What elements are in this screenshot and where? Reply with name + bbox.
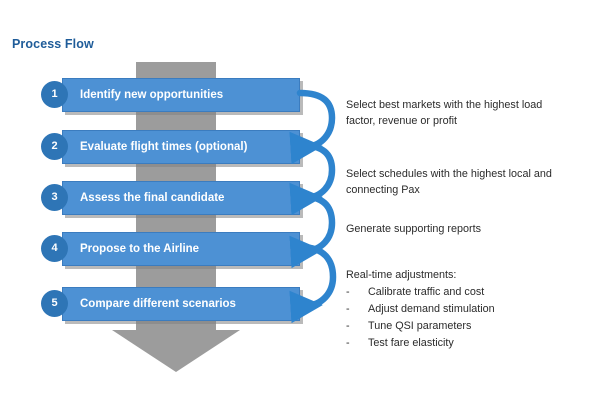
annotation-2-line-1: Select schedules with the highest local … <box>346 166 592 182</box>
annotation-4-bullet-4: -Test fare elasticity <box>346 335 592 352</box>
step-number-5: 5 <box>41 290 68 317</box>
step-number-3: 3 <box>41 184 68 211</box>
step-label-3: Assess the final candidate <box>80 181 224 215</box>
annotation-4-bullet-1-text: Calibrate traffic and cost <box>368 286 484 298</box>
bullet-marker-icon: - <box>346 301 368 318</box>
step-number-2: 2 <box>41 133 68 160</box>
annotation-4-bullet-4-text: Test fare elasticity <box>368 337 454 349</box>
loop-arrow-4 <box>300 247 333 306</box>
loop-arrow-1 <box>300 93 332 147</box>
annotation-2: Select schedules with the highest local … <box>346 166 592 198</box>
loop-arrow-3 <box>300 196 332 251</box>
annotation-2-line-2: connecting Pax <box>346 182 592 198</box>
annotation-4: Real-time adjustments: -Calibrate traffi… <box>346 267 592 352</box>
annotation-1: Select best markets with the highest loa… <box>346 97 592 129</box>
annotation-3: Generate supporting reports <box>346 221 592 237</box>
bullet-marker-icon: - <box>346 318 368 335</box>
page-title: Process Flow <box>12 37 94 51</box>
bullet-marker-icon: - <box>346 335 368 352</box>
annotation-1-line-1: Select best markets with the highest loa… <box>346 97 592 113</box>
step-number-1: 1 <box>41 81 68 108</box>
bullet-marker-icon: - <box>346 284 368 301</box>
step-label-5: Compare different scenarios <box>80 287 236 321</box>
step-label-2: Evaluate flight times (optional) <box>80 130 247 164</box>
annotation-4-bullet-3-text: Tune QSI parameters <box>368 320 471 332</box>
step-label-4: Propose to the Airline <box>80 232 199 266</box>
step-number-4: 4 <box>41 235 68 262</box>
step-label-1: Identify new opportunities <box>80 78 223 112</box>
annotation-4-bullet-2-text: Adjust demand stimulation <box>368 303 495 315</box>
annotation-3-line-1: Generate supporting reports <box>346 221 592 237</box>
process-flow-diagram: Process Flow 1 Identify new opportunitie… <box>0 0 600 400</box>
loop-arrow-2 <box>300 145 332 198</box>
annotation-4-bullet-1: -Calibrate traffic and cost <box>346 284 592 301</box>
annotation-4-bullet-2: -Adjust demand stimulation <box>346 301 592 318</box>
annotation-1-line-2: factor, revenue or profit <box>346 113 592 129</box>
annotation-4-heading: Real-time adjustments: <box>346 267 592 284</box>
annotation-4-bullet-3: -Tune QSI parameters <box>346 318 592 335</box>
